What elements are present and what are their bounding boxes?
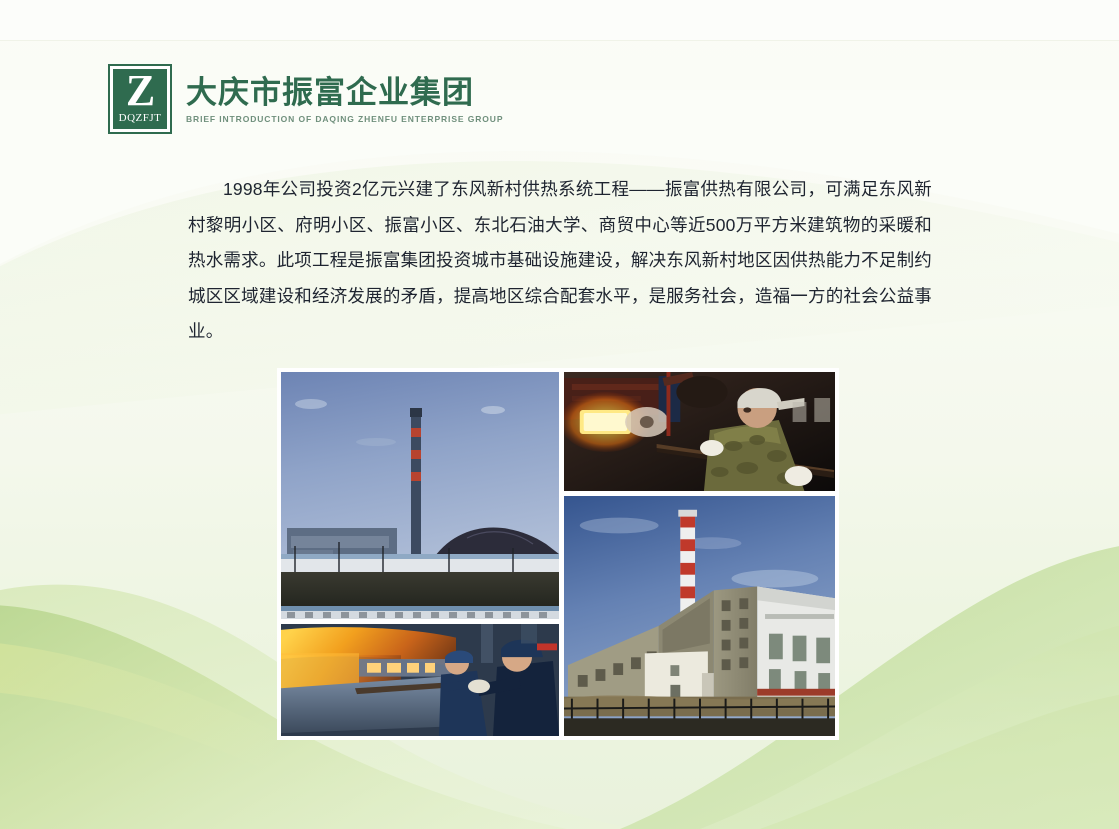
- plant-wide-illustration: [281, 372, 559, 619]
- logo-letter-z: Z: [126, 71, 154, 111]
- company-logo: Z DQZFJT: [108, 64, 172, 134]
- collage-column-left: [281, 372, 559, 736]
- photo-heating-plant-wide: [281, 372, 559, 619]
- collage-column-right: [564, 372, 835, 736]
- logo-abbreviation: DQZFJT: [119, 112, 162, 125]
- title-block: 大庆市振富企业集团 BRIEF INTRODUCTION OF DAQING Z…: [186, 64, 503, 124]
- page-title: 大庆市振富企业集团: [186, 76, 503, 110]
- logo-inner-block: Z DQZFJT: [113, 69, 167, 129]
- photo-collage: [277, 368, 839, 740]
- plant-building-illustration: [564, 496, 835, 736]
- slide-page: Z DQZFJT 大庆市振富企业集团 BRIEF INTRODUCTION OF…: [0, 0, 1119, 829]
- top-strip: [0, 0, 1119, 41]
- boiler-workers-illustration: [281, 624, 559, 736]
- furnace-operator-illustration: [564, 372, 835, 491]
- photo-boiler-workers: [281, 624, 559, 736]
- body-paragraph: 1998年公司投资2亿元兴建了东风新村供热系统工程——振富供热有限公司，可满足东…: [188, 172, 932, 350]
- photo-heating-plant-building: [564, 496, 835, 736]
- photo-furnace-operator: [564, 372, 835, 491]
- page-subtitle: BRIEF INTRODUCTION OF DAQING ZHENFU ENTE…: [186, 114, 503, 124]
- brand-header: Z DQZFJT 大庆市振富企业集团 BRIEF INTRODUCTION OF…: [108, 64, 503, 134]
